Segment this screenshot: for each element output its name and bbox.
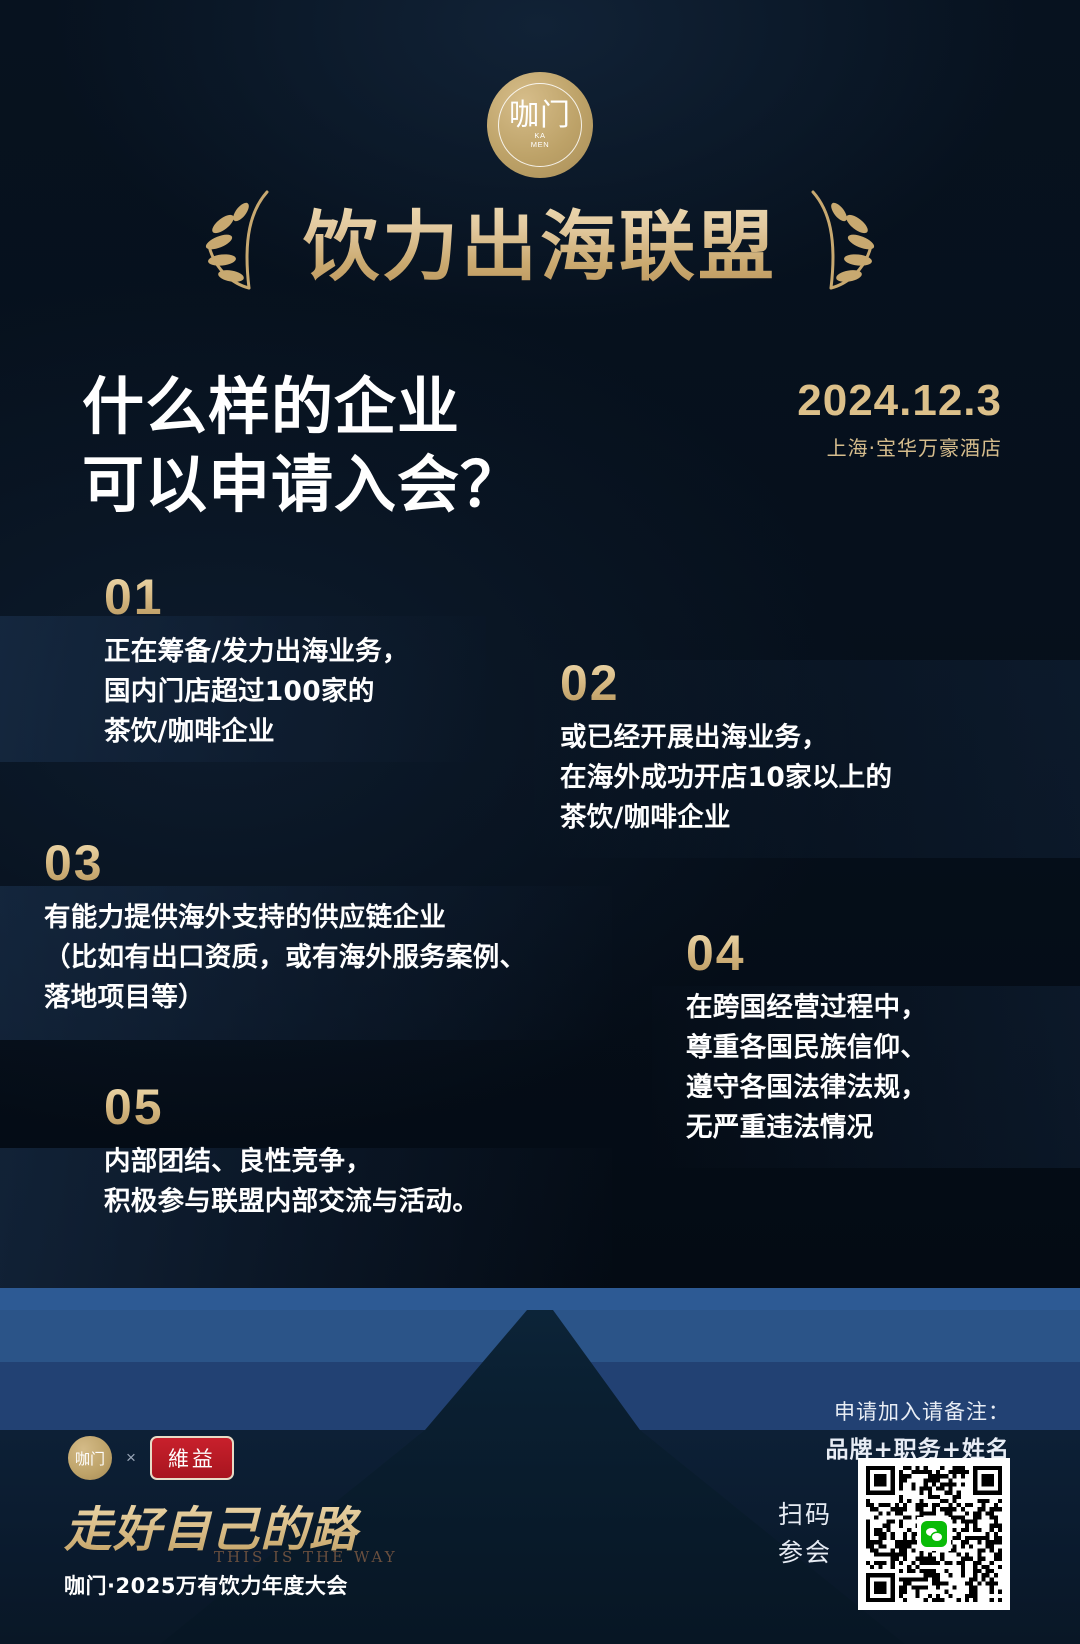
headline-line-1: 什么样的企业 (82, 368, 682, 446)
kamen-small-logo-text: 咖门 (75, 1448, 105, 1469)
criterion-item-04: 04 在跨国经营过程中， 尊重各国民族信仰、 遵守各国法律法规， 无严重违法情况 (686, 928, 927, 1148)
alliance-title-row: 饮力出海联盟 (0, 180, 1080, 300)
criterion-number: 02 (560, 658, 892, 708)
tagline-english: THIS IS THE WAY (214, 1548, 484, 1566)
partner-logo-weiyi: 維益 (150, 1436, 234, 1480)
join-note-label: 申请加入请备注： (825, 1396, 1010, 1426)
qr-code[interactable] (858, 1458, 1010, 1610)
partner-cross-symbol: × (126, 1448, 136, 1468)
kamen-small-logo: 咖门 (68, 1436, 112, 1480)
qr-section: 扫码 参会 (778, 1458, 1010, 1610)
criterion-number: 04 (686, 928, 927, 978)
poster-canvas: 咖门 KA MEN 饮力出海联盟 (0, 0, 1080, 1644)
criterion-text: 正在筹备/发力出海业务， 国内门店超过100家的 茶饮/咖啡企业 (104, 632, 409, 752)
criterion-item-03: 03 有能力提供海外支持的供应链企业 （比如有出口资质，或有海外服务案例、 落地… (44, 838, 526, 1018)
kamen-logo: 咖门 KA MEN (487, 72, 593, 178)
scan-label: 扫码 参会 (778, 1496, 832, 1572)
event-date-block: 2024.12.3 上海·宝华万豪酒店 (797, 376, 1002, 461)
join-instructions: 申请加入请备注： 品牌+职务+姓名 (825, 1396, 1010, 1464)
horizon-band-light (0, 1288, 1080, 1310)
scan-label-line-1: 扫码 (778, 1496, 832, 1534)
logo-ring: 咖门 KA MEN (498, 83, 582, 167)
criterion-text: 或已经开展出海业务， 在海外成功开店10家以上的 茶饮/咖啡企业 (560, 718, 892, 838)
event-venue: 上海·宝华万豪酒店 (797, 432, 1002, 461)
logo-en-text: KA MEN (531, 132, 549, 149)
criterion-number: 03 (44, 838, 526, 888)
event-tagline-block: 走好自己的路 THIS IS THE WAY 咖门·2025万有饮力年度大会 (64, 1490, 484, 1600)
laurel-left-icon (193, 184, 285, 296)
event-name: 咖门·2025万有饮力年度大会 (64, 1570, 484, 1600)
horizon-band-mid (0, 1310, 1080, 1362)
criterion-item-05: 05 内部团结、良性竞争， 积极参与联盟内部交流与活动。 (104, 1082, 479, 1222)
event-date: 2024.12.3 (797, 376, 1002, 426)
criterion-text: 有能力提供海外支持的供应链企业 （比如有出口资质，或有海外服务案例、 落地项目等… (44, 898, 526, 1018)
page-headline: 什么样的企业 可以申请入会？ (82, 368, 682, 524)
criterion-number: 01 (104, 572, 409, 622)
partner-brand-row: 咖门 × 維益 (68, 1436, 234, 1480)
criterion-item-02: 02 或已经开展出海业务， 在海外成功开店10家以上的 茶饮/咖啡企业 (560, 658, 892, 838)
criterion-text: 在跨国经营过程中， 尊重各国民族信仰、 遵守各国法律法规， 无严重违法情况 (686, 988, 927, 1148)
scan-label-line-2: 参会 (778, 1534, 832, 1572)
alliance-title: 饮力出海联盟 (303, 185, 777, 295)
criterion-number: 05 (104, 1082, 479, 1132)
laurel-right-icon (795, 184, 887, 296)
criterion-text: 内部团结、良性竞争， 积极参与联盟内部交流与活动。 (104, 1142, 479, 1222)
logo-cn-text: 咖门 (509, 101, 571, 131)
wechat-icon (917, 1517, 951, 1551)
headline-line-2: 可以申请入会？ (82, 446, 682, 524)
criterion-item-01: 01 正在筹备/发力出海业务， 国内门店超过100家的 茶饮/咖啡企业 (104, 572, 409, 752)
